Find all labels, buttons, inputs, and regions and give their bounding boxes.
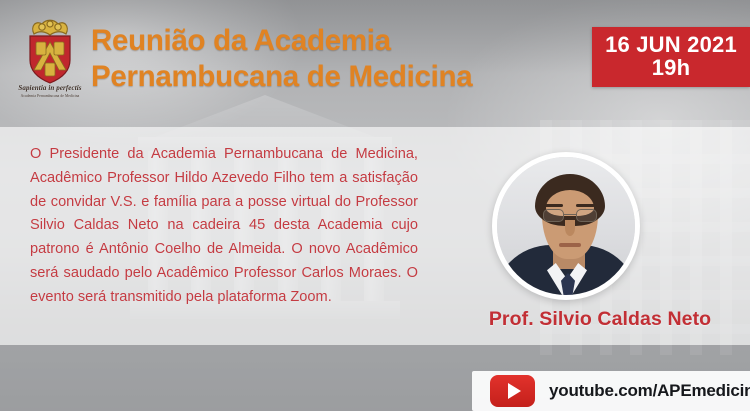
crest-motto: Sapientia in perfectis	[14, 84, 86, 92]
date-badge: 16 JUN 2021 19h	[592, 27, 750, 87]
event-poster: Sapientia in perfectis Academia Pernambu…	[0, 0, 750, 411]
crest-subtext: Academia Pernambucana de Medicina	[14, 94, 86, 98]
crest-icon	[14, 16, 86, 86]
event-date: 16 JUN 2021	[605, 34, 737, 57]
invitation-text: O Presidente da Academia Pernambucana de…	[30, 143, 418, 309]
speaker-portrait	[492, 152, 640, 300]
portrait-photo	[497, 157, 635, 295]
youtube-play-icon	[490, 375, 535, 407]
page-title: Reunião da Academia Pernambucana de Medi…	[91, 23, 571, 96]
title-line-2: Pernambucana de Medicina	[91, 59, 571, 95]
speaker-name: Prof. Silvio Caldas Neto	[455, 308, 745, 331]
poster-header: Sapientia in perfectis Academia Pernambu…	[0, 0, 750, 127]
title-line-1: Reunião da Academia	[91, 24, 391, 57]
youtube-channel-bar[interactable]: youtube.com/APEmedicina	[472, 371, 750, 411]
academia-crest-logo: Sapientia in perfectis Academia Pernambu…	[14, 16, 86, 108]
youtube-channel-url[interactable]: youtube.com/APEmedicina	[549, 381, 750, 401]
event-time: 19h	[652, 57, 691, 80]
